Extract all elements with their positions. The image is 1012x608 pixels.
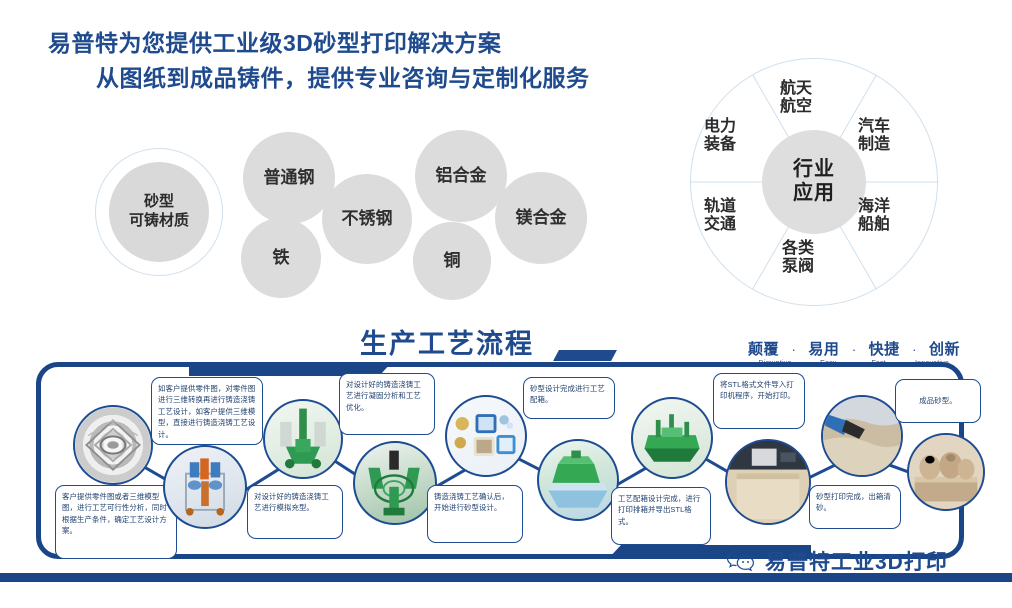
material-bubble-iron: 铁 <box>241 218 321 298</box>
sand-cleaning-icon <box>823 397 901 475</box>
material-label: 铝合金 <box>436 166 487 186</box>
segment-line2: 航空 <box>780 98 812 116</box>
material-bubble-stainless-steel: 不锈钢 <box>322 174 412 264</box>
slogan-cn-fast: 快捷 <box>869 338 900 359</box>
printer-icon <box>727 441 809 523</box>
flow-caption-9: 砂型打印完成，出箱清砂。 <box>809 485 901 529</box>
segment-line2: 交通 <box>704 216 736 234</box>
page-title-line1: 易普特为您提供工业级3D砂型打印解决方案 <box>48 28 668 59</box>
wheel-segment-marine: 海洋 船舶 <box>858 198 890 235</box>
flow-node-mold-filling-icon <box>263 399 343 479</box>
segment-line1: 轨道 <box>704 198 736 216</box>
segment-line2: 装备 <box>704 136 736 154</box>
wheel-center-label: 行业 应用 <box>762 130 866 234</box>
wheel-segment-rail-transit: 轨道 交通 <box>704 198 736 235</box>
flow-caption-3: 对设计好的铸造浇铸工艺进行模拟充型。 <box>247 485 343 539</box>
flow-node-finished-mold-icon <box>907 433 985 511</box>
software-suite-icon <box>447 397 525 475</box>
title-dash-decor <box>553 350 617 361</box>
mold-filling-icon <box>265 401 341 477</box>
solidification-icon <box>355 443 435 523</box>
segment-line2: 制造 <box>858 136 890 154</box>
flow-caption-10: 成品砂型。 <box>895 379 981 423</box>
segment-line1: 汽车 <box>858 118 890 136</box>
wheel-segment-automotive: 汽车 制造 <box>858 118 890 155</box>
materials-center-label: 砂型 可铸材质 <box>109 162 209 262</box>
materials-center-line2: 可铸材质 <box>129 212 189 231</box>
material-label: 镁合金 <box>516 208 567 228</box>
page-title-line2: 从图纸到成品铸件，提供专业咨询与定制化服务 <box>96 63 668 94</box>
material-label: 铁 <box>273 248 290 268</box>
slogan-dot: · <box>911 342 917 357</box>
slogan-cn-row: 颠覆 · 易用 · 快捷 · 创新 <box>748 338 960 359</box>
flow-node-software-suite-icon <box>445 395 527 477</box>
wheel-center-line1: 行业 <box>793 158 835 182</box>
materials-center-line1: 砂型 <box>129 193 189 212</box>
slogan-dot: · <box>791 342 797 357</box>
wheel-segment-pumps-valves: 各类 泵阀 <box>782 240 814 277</box>
flow-caption-6: 砂型设计完成进行工艺配箱。 <box>523 377 615 419</box>
segment-line2: 泵阀 <box>782 258 814 276</box>
flow-node-printer-icon <box>725 439 811 525</box>
segment-line1: 海洋 <box>858 198 890 216</box>
flow-node-wireframe-part-icon <box>73 405 153 485</box>
segment-line2: 船舶 <box>858 216 890 234</box>
slogan-cn-innovative: 创新 <box>929 338 960 359</box>
footer-brand: 易普特工业3D打印 <box>726 546 948 576</box>
slogan-cn-disruptive: 颠覆 <box>748 338 779 359</box>
material-label: 普通钢 <box>264 168 315 188</box>
box-layout-icon <box>633 399 711 477</box>
material-label: 铜 <box>444 251 461 271</box>
wireframe-part-icon <box>75 407 151 483</box>
flow-caption-1: 客户提供零件图或者三维模型图，进行工艺可行性分析，同时根据生产条件，确定工艺设计… <box>55 485 177 559</box>
sand-mold-design-icon <box>539 441 617 519</box>
casting-model-icon <box>165 447 245 527</box>
flow-caption-7: 工艺配箱设计完成，进行打印排箱并导出STL格式。 <box>611 487 711 545</box>
wheel-segment-aerospace: 航天 航空 <box>780 80 812 117</box>
material-bubble-magnesium-alloy: 镁合金 <box>495 172 587 264</box>
industry-wheel: 行业 应用 航天 航空 汽车 制造 海洋 船舶 各类 泵阀 轨道 交通 电力 装… <box>690 58 938 306</box>
segment-line1: 各类 <box>782 240 814 258</box>
flow-content: 客户提供零件图或者三维模型图，进行工艺可行性分析，同时根据生产条件，确定工艺设计… <box>41 367 969 564</box>
infographic-canvas: 易普特为您提供工业级3D砂型打印解决方案 从图纸到成品铸件，提供专业咨询与定制化… <box>0 0 1012 608</box>
wechat-icon <box>726 549 756 573</box>
flow-node-box-layout-icon <box>631 397 713 479</box>
process-flow-panel: 客户提供零件图或者三维模型图，进行工艺可行性分析，同时根据生产条件，确定工艺设计… <box>36 362 964 559</box>
segment-line1: 电力 <box>704 118 736 136</box>
material-bubble-aluminum-alloy: 铝合金 <box>415 130 507 222</box>
header: 易普特为您提供工业级3D砂型打印解决方案 从图纸到成品铸件，提供专业咨询与定制化… <box>48 28 668 94</box>
wheel-segment-power-equipment: 电力 装备 <box>704 118 736 155</box>
flow-section-title: 生产工艺流程 <box>360 322 534 361</box>
flow-node-sand-cleaning-icon <box>821 395 903 477</box>
flow-node-casting-model-icon <box>163 445 247 529</box>
finished-mold-icon <box>909 435 983 509</box>
flow-caption-2: 如客户提供零件图，对零件图进行三维转换再进行铸造浇铸工艺设计，如客户提供三维模型… <box>151 377 263 445</box>
material-label: 不锈钢 <box>342 209 393 229</box>
segment-line1: 航天 <box>780 80 812 98</box>
flow-caption-4: 对设计好的铸造浇铸工艺进行凝固分析和工艺优化。 <box>339 373 435 435</box>
flow-node-solidification-icon <box>353 441 437 525</box>
flow-node-sand-mold-design-icon <box>537 439 619 521</box>
wheel-center-line2: 应用 <box>793 182 835 206</box>
brand-name: 易普特工业3D打印 <box>765 546 948 576</box>
materials-group: 砂型 可铸材质 普通钢 铁 不锈钢 铝合金 铜 镁合金 <box>95 118 655 303</box>
material-bubble-copper: 铜 <box>413 222 491 300</box>
flow-caption-8: 将STL格式文件导入打印机程序，开始打印。 <box>713 373 805 429</box>
flow-caption-5: 铸造浇铸工艺确认后，开始进行砂型设计。 <box>427 485 523 543</box>
material-bubble-normal-steel: 普通钢 <box>243 132 335 224</box>
slogan-cn-easy: 易用 <box>808 338 839 359</box>
slogan-dot: · <box>851 342 857 357</box>
